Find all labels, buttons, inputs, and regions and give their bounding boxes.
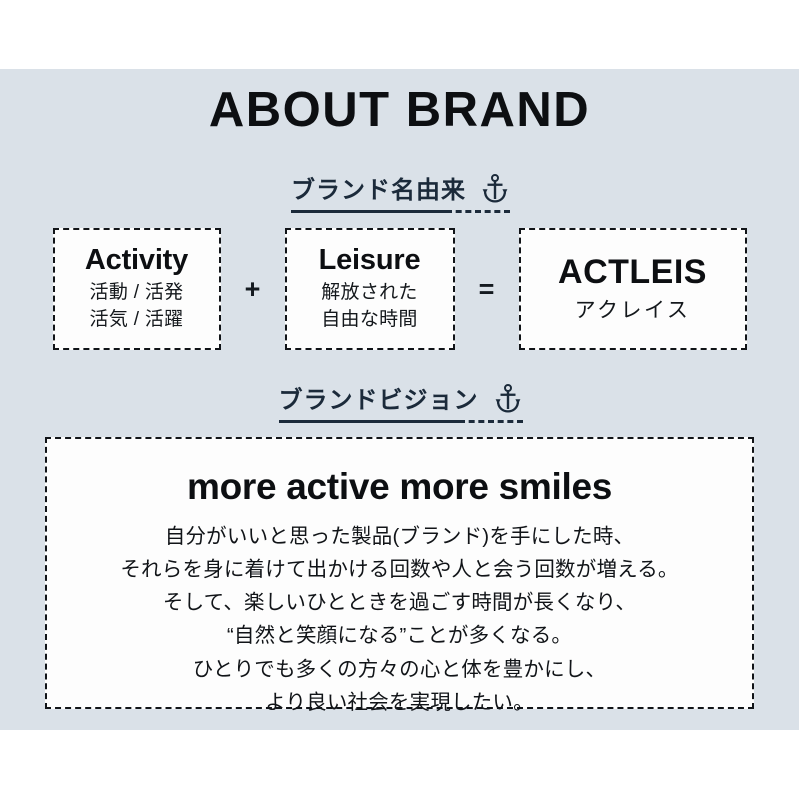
- vision-body: 自分がいいと思った製品(ブランド)を手にした時、 それらを身に着けて出かける回数…: [120, 520, 678, 719]
- section-heading-rule-dashed: [459, 420, 523, 423]
- vision-body-line: “自然と笑顔になる”ことが多くなる。: [120, 619, 678, 652]
- operator-plus: +: [221, 276, 285, 303]
- vision-body-line: ひとりでも多くの方々の心と体を豊かにし、: [120, 653, 678, 686]
- section-heading-vision: ブランドビジョン: [0, 384, 799, 423]
- word-box-actleis-en: ACTLEIS: [558, 253, 707, 292]
- operator-equals: =: [455, 276, 519, 303]
- vision-body-line: それらを身に着けて出かける回数や人と会う回数が増える。: [120, 553, 678, 586]
- word-box-actleis-jp-1: アクレイス: [575, 296, 691, 326]
- word-box-leisure-jp-2: 自由な時間: [321, 307, 418, 334]
- vision-body-line: 自分がいいと思った製品(ブランド)を手にした時、: [120, 520, 678, 553]
- section-heading-rule-dashed: [446, 210, 510, 213]
- word-box-leisure-jp-1: 解放された: [321, 280, 418, 307]
- about-brand-page: ABOUT BRAND ブランド名由来: [0, 0, 799, 799]
- anchor-icon: [495, 384, 521, 414]
- page-title: ABOUT BRAND: [0, 86, 799, 135]
- vision-body-line: そして、楽しいひとときを過ごす時間が長くなり、: [120, 586, 678, 619]
- section-heading-origin-label: ブランド名由来: [291, 178, 466, 204]
- anchor-icon: [482, 174, 508, 204]
- section-heading-vision-label: ブランドビジョン: [279, 388, 479, 414]
- section-heading-origin: ブランド名由来: [0, 174, 799, 213]
- word-box-activity-jp-1: 活動 / 活発: [90, 280, 184, 307]
- vision-body-line: より良い社会を実現したい。: [120, 686, 678, 719]
- vision-slogan: more active more smiles: [187, 467, 612, 508]
- word-box-activity-en: Activity: [85, 244, 188, 277]
- word-box-activity-jp-2: 活気 / 活躍: [90, 307, 184, 334]
- word-box-activity: Activity 活動 / 活発 活気 / 活躍: [53, 228, 221, 350]
- word-box-actleis: ACTLEIS アクレイス: [519, 228, 747, 350]
- brand-name-equation: Activity 活動 / 活発 活気 / 活躍 + Leisure 解放された…: [0, 228, 799, 350]
- word-box-leisure-en: Leisure: [319, 244, 421, 277]
- word-box-leisure: Leisure 解放された 自由な時間: [285, 228, 455, 350]
- brand-vision-box: more active more smiles 自分がいいと思った製品(ブランド…: [45, 437, 754, 709]
